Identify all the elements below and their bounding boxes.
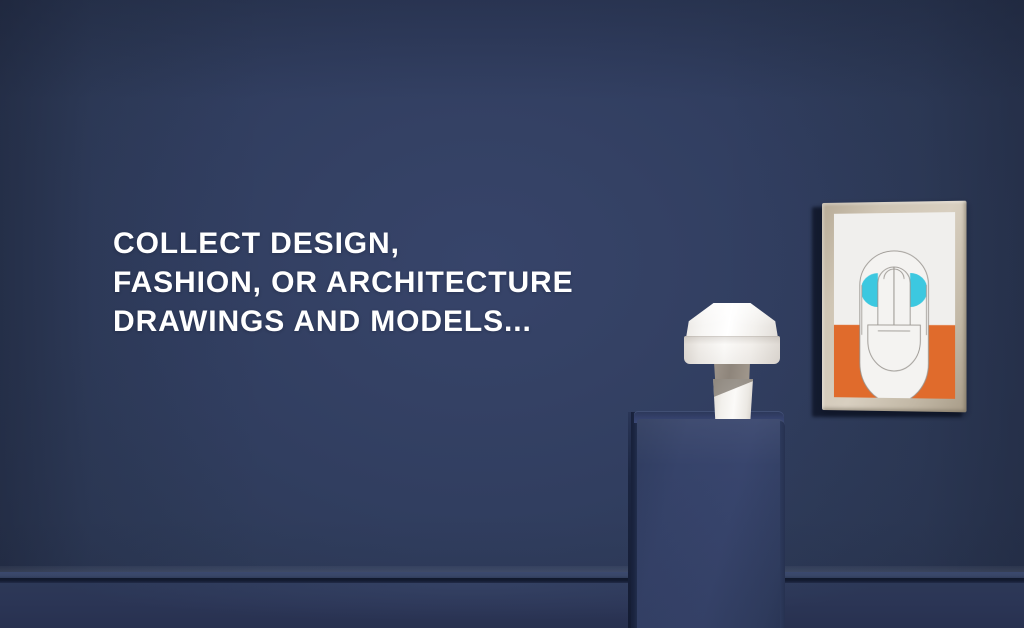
- headline-line-3: DRAWINGS AND MODELS...: [113, 302, 733, 341]
- pedestal-right-edge: [780, 421, 785, 628]
- lamp-base-shadow: [711, 379, 753, 419]
- pedestal-left-rim: [628, 412, 631, 628]
- artwork-label: abstract arch face: [818, 203, 819, 204]
- page-title: COLLECT DESIGN, FASHION, OR ARCHITECTURE…: [113, 224, 733, 341]
- headline-line-2: FASHION, OR ARCHITECTURE: [113, 263, 733, 302]
- artwork-inner-arch-right: [894, 267, 910, 331]
- baseboard-molding: [0, 566, 1024, 628]
- framed-abstract-print: abstract arch face: [818, 203, 966, 413]
- lamp-label: mushroom-table-lamp: [682, 303, 683, 304]
- artwork-canvas: [834, 212, 955, 399]
- artwork-inner-arch-left: [878, 267, 894, 331]
- hero-scene: COLLECT DESIGN, FASHION, OR ARCHITECTURE…: [0, 0, 1024, 628]
- display-pedestal: display-pedestal: [628, 405, 790, 628]
- lamp-shade-band-shadow: [684, 336, 780, 364]
- lamp-shade-highlight: [686, 303, 778, 338]
- pedestal-label: display-pedestal: [628, 405, 629, 406]
- pedestal-front-shading: [637, 419, 785, 628]
- headline-line-1: COLLECT DESIGN,: [113, 224, 733, 263]
- artwork-illustration: [834, 212, 955, 399]
- floor-sheen: [0, 583, 1024, 628]
- picture-frame: [822, 201, 967, 413]
- mushroom-table-lamp: mushroom-table-lamp: [682, 303, 782, 419]
